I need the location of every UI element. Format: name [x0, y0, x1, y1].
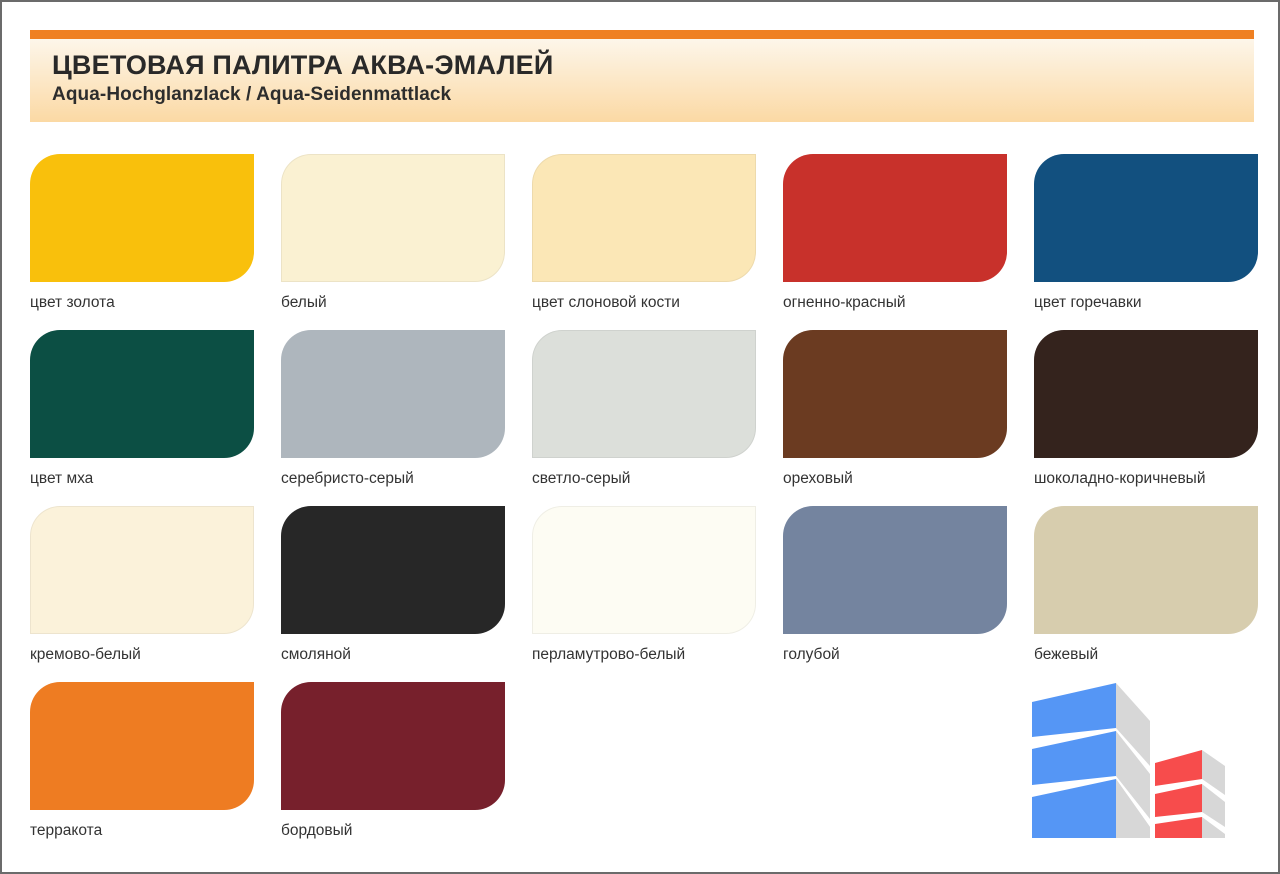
swatch-cell[interactable]: цвет мха — [30, 330, 280, 506]
swatch-cell[interactable]: голубой — [783, 506, 1033, 682]
color-swatch[interactable] — [1034, 330, 1258, 458]
swatch-label: цвет золота — [30, 294, 280, 312]
page-header: ЦВЕТОВАЯ ПАЛИТРА АКВА-ЭМАЛЕЙ Aqua-Hochgl… — [30, 30, 1254, 122]
swatch-cell[interactable]: цвет горечавки — [1034, 154, 1280, 330]
color-swatch[interactable] — [30, 506, 254, 634]
color-swatch[interactable] — [30, 682, 254, 810]
swatch-cell[interactable]: цвет золота — [30, 154, 280, 330]
swatch-cell[interactable]: шоколадно-коричневый — [1034, 330, 1280, 506]
swatch-cell[interactable]: ореховый — [783, 330, 1033, 506]
swatch-cell[interactable]: бордовый — [281, 682, 531, 858]
color-swatch[interactable] — [281, 682, 505, 810]
swatch-label: смоляной — [281, 646, 531, 664]
swatch-cell[interactable]: бежевый — [1034, 506, 1280, 682]
swatch-label: цвет горечавки — [1034, 294, 1280, 312]
header-accent-bar — [30, 30, 1254, 39]
color-swatch[interactable] — [281, 330, 505, 458]
building-logo — [1020, 674, 1246, 846]
swatch-label: бордовый — [281, 822, 531, 840]
color-swatch[interactable] — [532, 330, 756, 458]
swatch-label: кремово-белый — [30, 646, 280, 664]
swatch-label: светло-серый — [532, 470, 782, 488]
color-swatch[interactable] — [783, 330, 1007, 458]
swatch-label: ореховый — [783, 470, 1033, 488]
color-swatch[interactable] — [30, 154, 254, 282]
swatch-cell[interactable]: терракота — [30, 682, 280, 858]
color-swatch[interactable] — [783, 154, 1007, 282]
swatch-cell[interactable]: огненно-красный — [783, 154, 1033, 330]
color-swatch[interactable] — [1034, 154, 1258, 282]
color-swatch[interactable] — [281, 154, 505, 282]
swatch-cell[interactable]: смоляной — [281, 506, 531, 682]
color-palette-page: ЦВЕТОВАЯ ПАЛИТРА АКВА-ЭМАЛЕЙ Aqua-Hochgl… — [0, 0, 1280, 874]
swatch-cell[interactable]: кремово-белый — [30, 506, 280, 682]
page-title: ЦВЕТОВАЯ ПАЛИТРА АКВА-ЭМАЛЕЙ — [52, 50, 1254, 80]
swatch-cell[interactable]: светло-серый — [532, 330, 782, 506]
swatch-label: перламутрово-белый — [532, 646, 782, 664]
color-swatch[interactable] — [532, 506, 756, 634]
color-swatch[interactable] — [1034, 506, 1258, 634]
swatch-cell[interactable]: белый — [281, 154, 531, 330]
swatch-label: серебристо-серый — [281, 470, 531, 488]
color-swatch[interactable] — [532, 154, 756, 282]
swatch-cell[interactable]: перламутрово-белый — [532, 506, 782, 682]
building-logo-icon — [1020, 674, 1246, 846]
swatch-label: цвет мха — [30, 470, 280, 488]
swatch-label: белый — [281, 294, 531, 312]
page-subtitle: Aqua-Hochglanzlack / Aqua-Seidenmattlack — [52, 84, 1254, 106]
swatch-cell[interactable]: серебристо-серый — [281, 330, 531, 506]
swatch-label: терракота — [30, 822, 280, 840]
swatch-label: голубой — [783, 646, 1033, 664]
swatch-label: цвет слоновой кости — [532, 294, 782, 312]
swatch-cell[interactable]: цвет слоновой кости — [532, 154, 782, 330]
swatch-label: огненно-красный — [783, 294, 1033, 312]
swatch-label: бежевый — [1034, 646, 1280, 664]
color-swatch[interactable] — [281, 506, 505, 634]
color-swatch[interactable] — [30, 330, 254, 458]
color-swatch[interactable] — [783, 506, 1007, 634]
header-body: ЦВЕТОВАЯ ПАЛИТРА АКВА-ЭМАЛЕЙ Aqua-Hochgl… — [30, 39, 1254, 122]
swatch-label: шоколадно-коричневый — [1034, 470, 1280, 488]
